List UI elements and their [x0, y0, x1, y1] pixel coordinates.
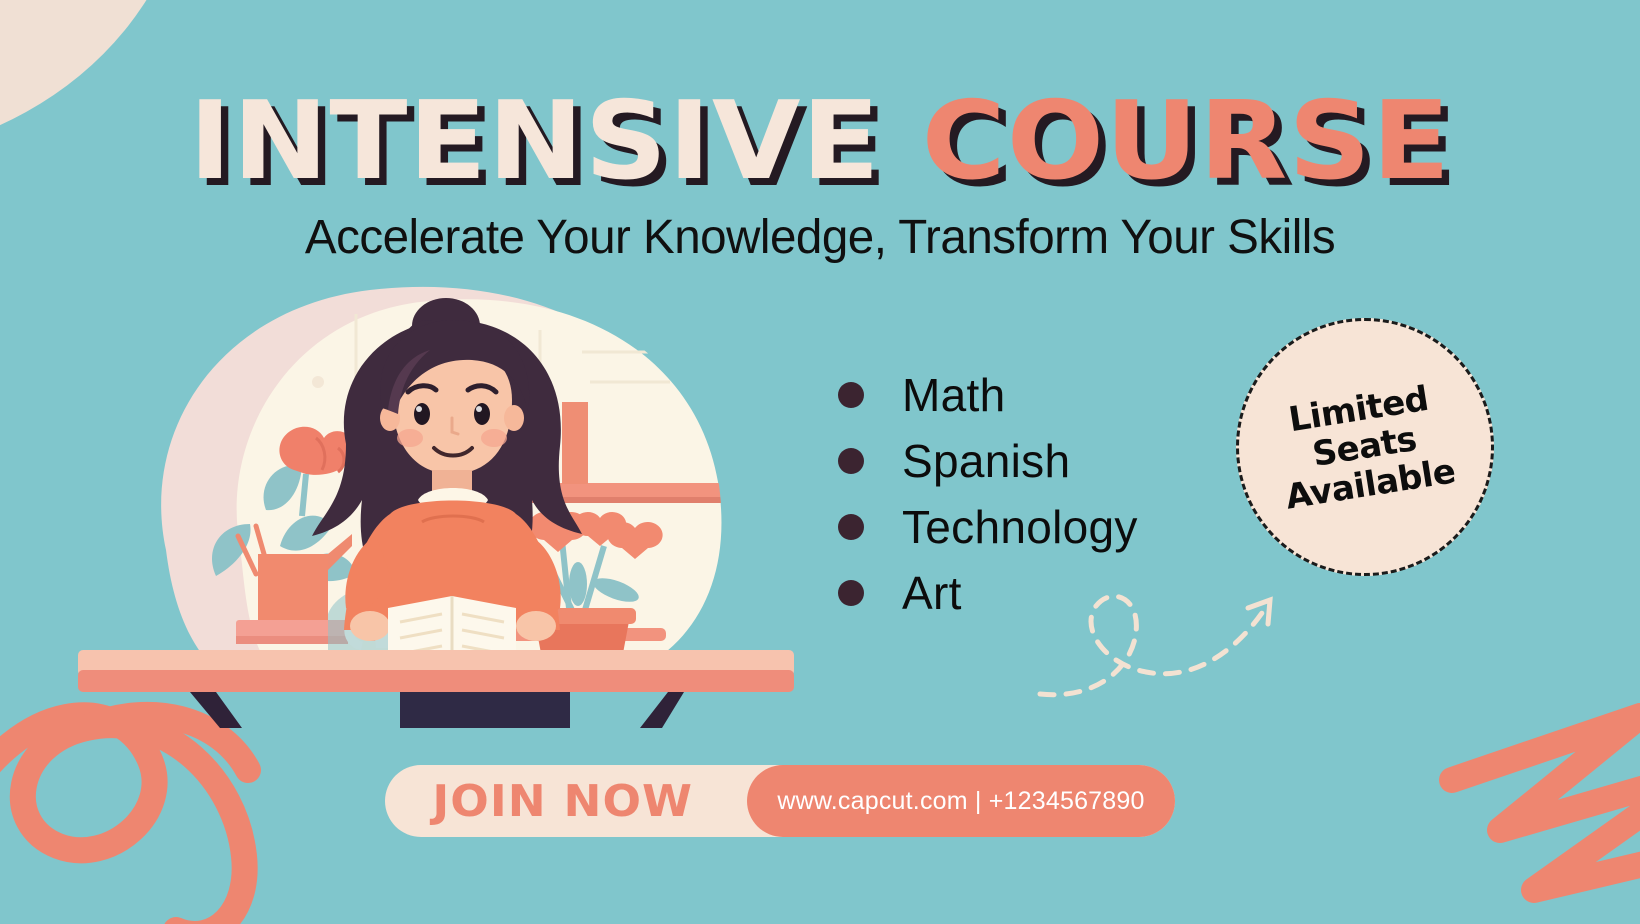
- list-item: Spanish: [838, 428, 1138, 494]
- title-word-course: COURSE: [922, 79, 1451, 204]
- bullet-icon: [838, 580, 864, 606]
- dashed-arrow-head: [1248, 600, 1270, 624]
- title-word-intensive: INTENSIVE: [189, 79, 881, 204]
- page-title: INTENSIVE COURSE: [0, 88, 1640, 196]
- list-item: Math: [838, 362, 1138, 428]
- contact-info[interactable]: www.capcut.com | +1234567890: [747, 765, 1175, 837]
- wall-dot: [312, 376, 324, 388]
- course-list: Math Spanish Technology Art: [838, 362, 1138, 626]
- course-label: Math: [902, 368, 1005, 422]
- bullet-icon: [838, 514, 864, 540]
- list-item: Technology: [838, 494, 1138, 560]
- course-label: Art: [902, 566, 962, 620]
- promo-banner: INTENSIVE COURSE Accelerate Your Knowled…: [0, 0, 1640, 924]
- join-now-button[interactable]: JOIN NOW: [385, 776, 693, 827]
- limited-seats-badge: Limited Seats Available: [1236, 318, 1494, 576]
- desk: [78, 650, 794, 728]
- coral-loop-decoration: [0, 715, 248, 924]
- page-subtitle: Accelerate Your Knowledge, Transform You…: [8, 210, 1632, 265]
- student-illustration: [70, 278, 830, 728]
- bullet-icon: [838, 448, 864, 474]
- list-item: Art: [838, 560, 1138, 626]
- badge-text: Limited Seats Available: [1272, 377, 1459, 517]
- bullet-icon: [838, 382, 864, 408]
- course-label: Spanish: [902, 434, 1070, 488]
- cta-bar[interactable]: JOIN NOW www.capcut.com | +1234567890: [385, 765, 1175, 837]
- coral-zigzag-decoration: [1452, 716, 1640, 890]
- course-label: Technology: [902, 500, 1138, 554]
